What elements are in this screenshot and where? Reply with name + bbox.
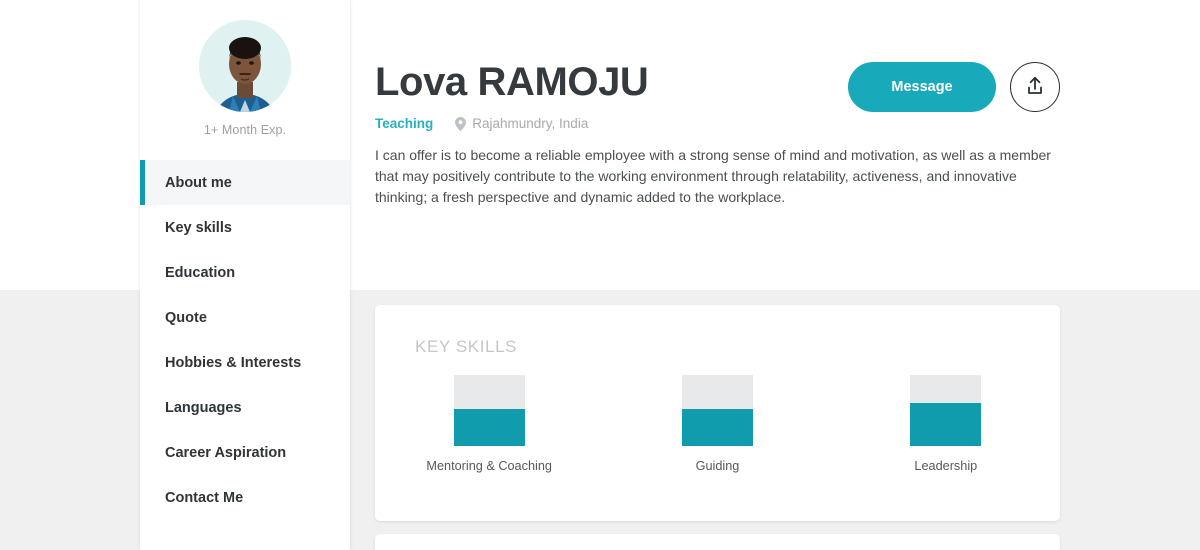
next-section-card xyxy=(375,534,1060,550)
key-skills-title: KEY SKILLS xyxy=(415,337,517,357)
skill-item: Leadership xyxy=(832,375,1060,473)
sidebar-item-career-aspiration[interactable]: Career Aspiration xyxy=(140,430,350,475)
profile-summary: 1+ Month Exp. xyxy=(140,0,350,137)
skill-label: Guiding xyxy=(696,459,740,473)
skill-bar-fill xyxy=(910,403,981,446)
role-link[interactable]: Teaching xyxy=(375,116,433,131)
skill-label: Mentoring & Coaching xyxy=(426,459,552,473)
avatar xyxy=(199,20,291,112)
sidebar-item-label: Languages xyxy=(165,400,242,416)
sidebar-item-label: About me xyxy=(165,175,232,191)
sidebar-item-label: Education xyxy=(165,265,235,281)
skill-bar-track xyxy=(682,375,753,446)
header-actions: Message xyxy=(848,62,1060,112)
skill-bar-track xyxy=(454,375,525,446)
key-skills-card: KEY SKILLS Mentoring & Coaching Guiding … xyxy=(375,305,1060,521)
sidebar-item-label: Contact Me xyxy=(165,490,243,506)
page-title: Lova RAMOJU xyxy=(375,62,1200,102)
location-pin-icon xyxy=(455,117,466,131)
sidebar-item-label: Key skills xyxy=(165,220,232,236)
sidebar-nav: About me Key skills Education Quote Hobb… xyxy=(140,160,350,520)
skill-bar-fill xyxy=(454,409,525,446)
sidebar-item-key-skills[interactable]: Key skills xyxy=(140,205,350,250)
bio-text: I can offer is to become a reliable empl… xyxy=(375,145,1065,208)
skill-item: Mentoring & Coaching xyxy=(375,375,603,473)
share-button[interactable] xyxy=(1010,62,1060,112)
skill-bar-track xyxy=(910,375,981,446)
sidebar-item-label: Hobbies & Interests xyxy=(165,355,301,371)
location-label: Rajahmundry, India xyxy=(472,116,588,131)
sidebar-item-quote[interactable]: Quote xyxy=(140,295,350,340)
skill-bar-fill xyxy=(682,409,753,446)
sidebar-item-label: Quote xyxy=(165,310,207,326)
key-skills-list: Mentoring & Coaching Guiding Leadership xyxy=(375,375,1060,473)
sidebar-item-hobbies-interests[interactable]: Hobbies & Interests xyxy=(140,340,350,385)
sidebar-item-contact-me[interactable]: Contact Me xyxy=(140,475,350,520)
skill-item: Guiding xyxy=(603,375,831,473)
profile-header: Lova RAMOJU Teaching Rajahmundry, India … xyxy=(350,0,1200,208)
experience-label: 1+ Month Exp. xyxy=(140,123,350,137)
sidebar-item-label: Career Aspiration xyxy=(165,445,286,461)
sidebar-item-languages[interactable]: Languages xyxy=(140,385,350,430)
skill-label: Leadership xyxy=(914,459,977,473)
sidebar-item-about-me[interactable]: About me xyxy=(140,160,350,205)
sidebar: 1+ Month Exp. About me Key skills Educat… xyxy=(140,0,350,550)
message-button[interactable]: Message xyxy=(848,62,996,112)
main-content: Lova RAMOJU Teaching Rajahmundry, India … xyxy=(350,0,1200,550)
sidebar-item-education[interactable]: Education xyxy=(140,250,350,295)
profile-meta: Teaching Rajahmundry, India xyxy=(375,116,1200,131)
share-upload-icon xyxy=(1024,75,1046,100)
